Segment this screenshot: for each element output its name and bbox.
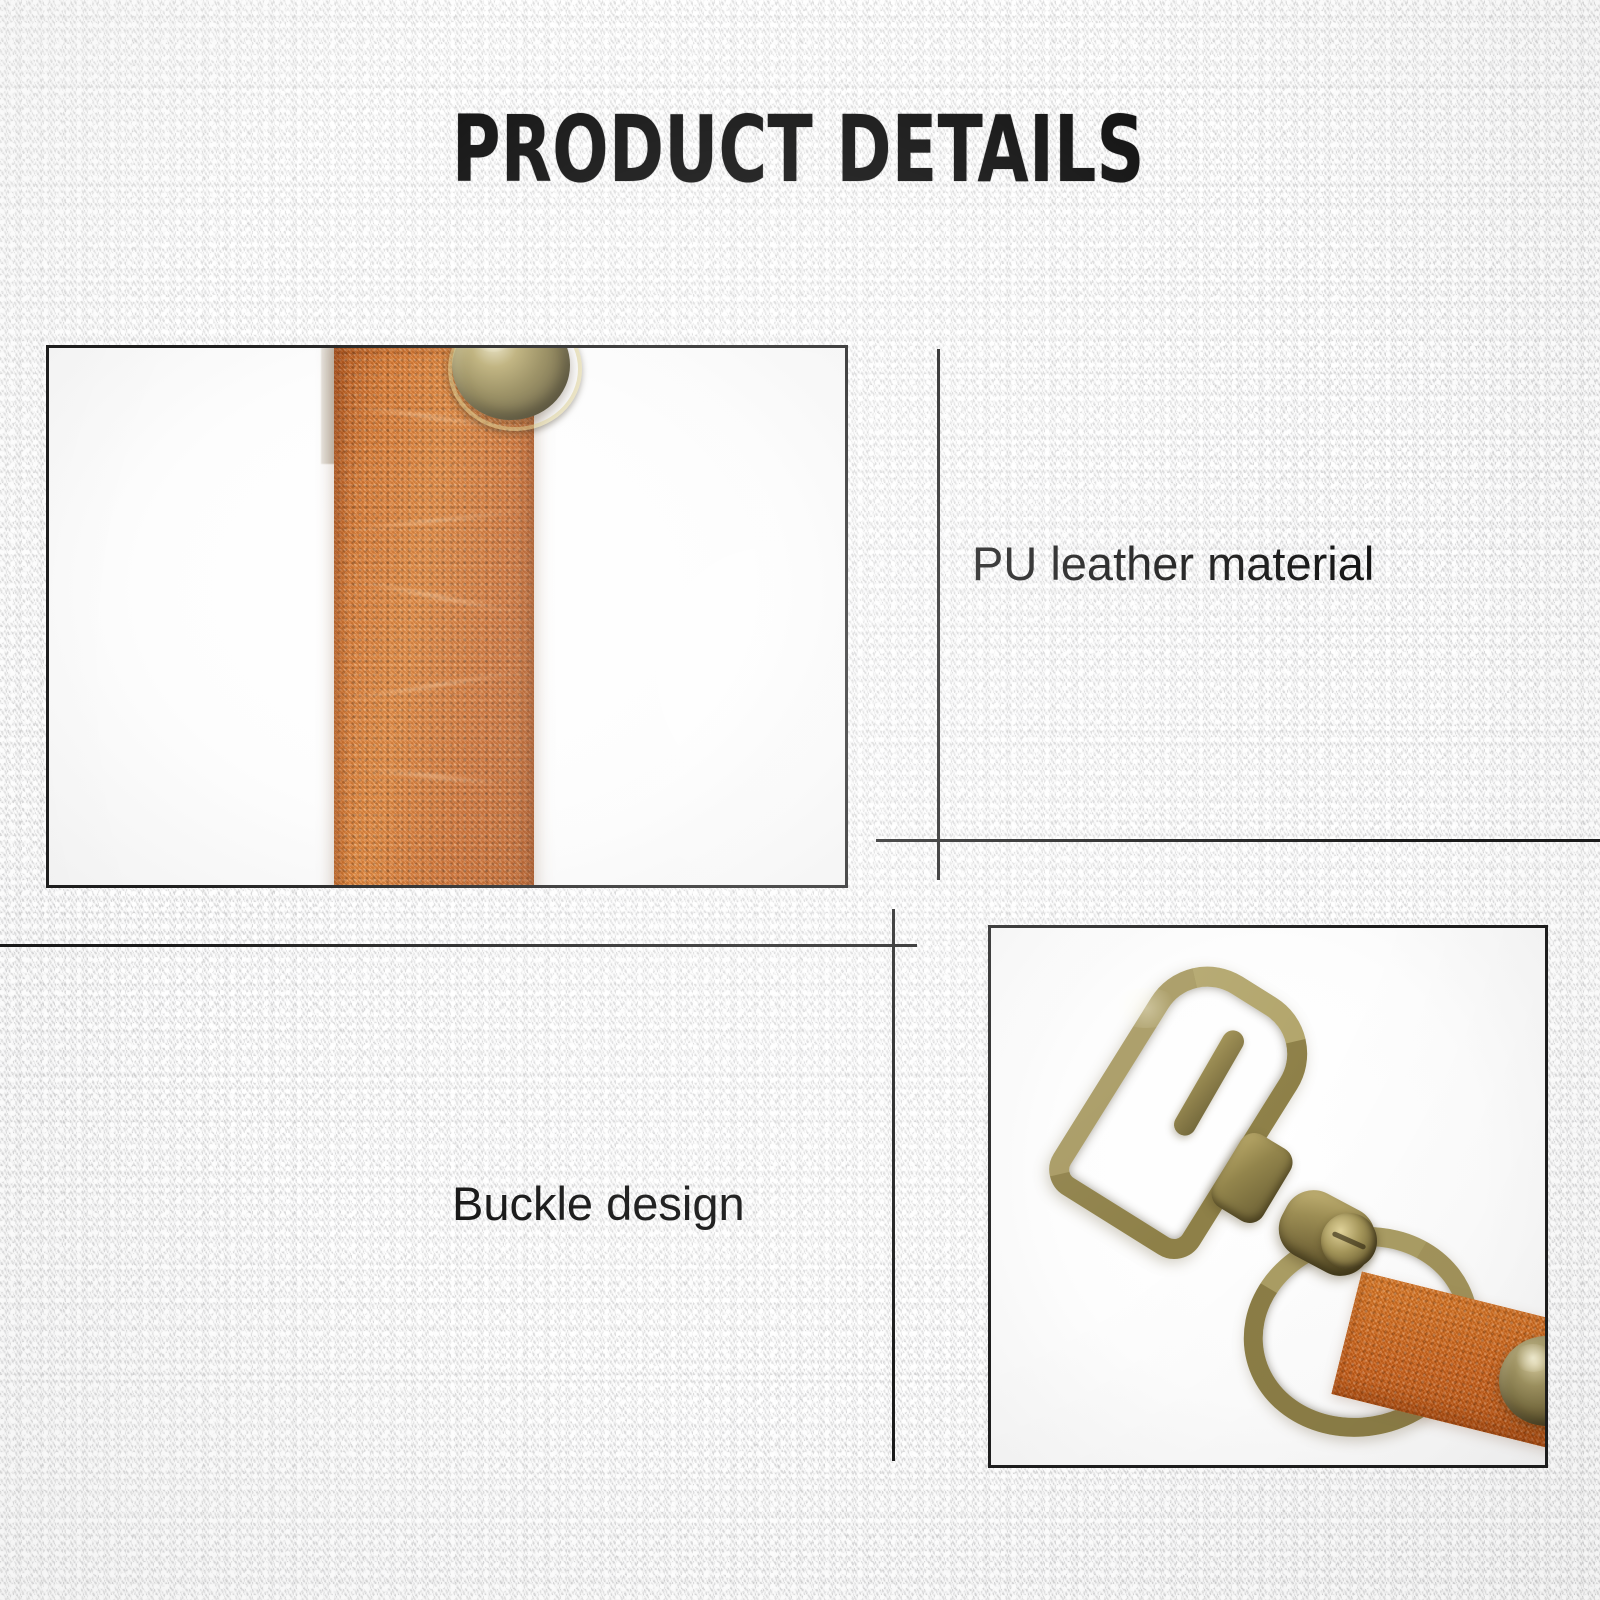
connector-line-vertical-buckle bbox=[892, 909, 895, 1461]
leather-crease bbox=[364, 767, 504, 787]
callout-label-pu-leather: PU leather material bbox=[972, 536, 1374, 591]
product-details-infographic: PRODUCT DETAILS PU leather material Buck… bbox=[0, 0, 1600, 1600]
swivel-clasp-photo bbox=[988, 925, 1548, 1468]
page-title: PRODUCT DETAILS bbox=[452, 104, 1145, 196]
connector-line-vertical-pu bbox=[937, 349, 940, 880]
photo-backdrop bbox=[991, 928, 1545, 1465]
rivet-highlight bbox=[1513, 1344, 1548, 1372]
leather-strap-with-rivet-photo bbox=[46, 345, 848, 888]
clasp-swivel-screw bbox=[1321, 1213, 1377, 1269]
connector-line-horizontal-pu bbox=[876, 839, 1600, 842]
swivel-snap-hook bbox=[991, 928, 1545, 1465]
connector-line-horizontal-buckle bbox=[0, 944, 917, 947]
leather-crease bbox=[357, 579, 515, 614]
photo-backdrop bbox=[49, 348, 845, 885]
callout-label-buckle-design: Buckle design bbox=[452, 1176, 745, 1231]
brass-rivet-stud bbox=[452, 345, 570, 420]
leather-crease bbox=[341, 670, 524, 703]
leather-crease bbox=[344, 510, 521, 533]
